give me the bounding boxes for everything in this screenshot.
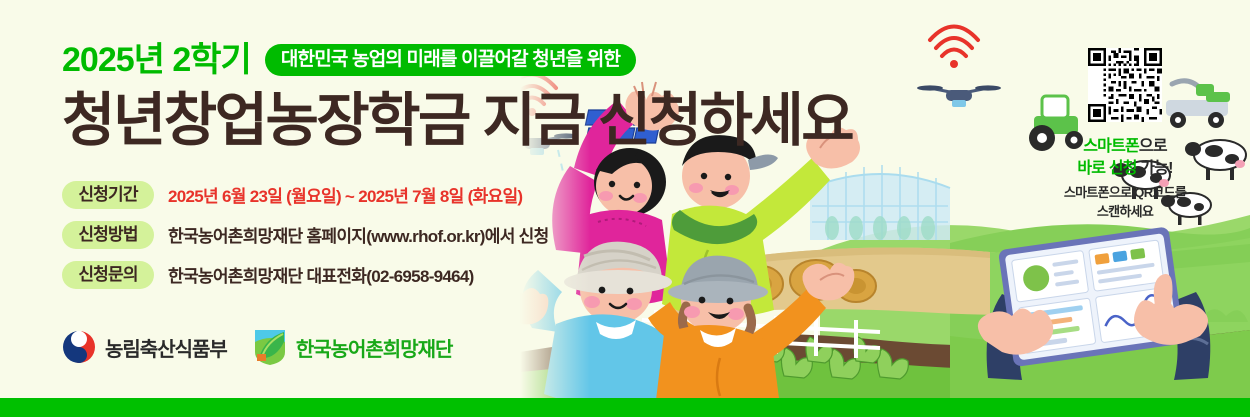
qr-headline-dark-1: 으로 xyxy=(1139,138,1167,155)
qr-sub-line2: 스캔하세요 xyxy=(1035,203,1215,222)
promo-banner: 2025년 2학기 대한민국 농업의 미래를 이끌어갈 청년을 위한 청년창업농… xyxy=(0,0,1250,417)
qr-block: 스마트폰으로 바로 신청 가능! 스마트폰으로 QR코드를 스캔하세요 xyxy=(1035,48,1215,222)
info-row-contact: 신청문의 한국농어촌희망재단 대표전화(02-6958-9464) xyxy=(62,255,682,295)
rhof-foundation-logo: 한국농어촌희망재단 xyxy=(253,328,453,366)
logo-row: 농림축산식품부 한국농어촌희망재단 xyxy=(62,328,452,366)
ministry-of-agriculture-logo: 농림축산식품부 xyxy=(62,330,227,364)
ministry-logo-text: 농림축산식품부 xyxy=(105,333,227,362)
info-row-method: 신청방법 한국농어촌희망재단 홈페이지(www.rhof.or.kr)에서 신청 xyxy=(62,215,682,255)
qr-headline-line1: 스마트폰으로 xyxy=(1035,136,1215,158)
green-leaf-shield-icon xyxy=(253,328,287,366)
bottom-green-band xyxy=(0,398,1250,417)
info-label-contact: 신청문의 xyxy=(62,261,154,289)
info-value-contact: 한국농어촌희망재단 대표전화(02-6958-9464) xyxy=(168,262,474,287)
qr-headline-green-1: 스마트폰 xyxy=(1083,138,1139,155)
info-value-period: 2025년 6월 23일 (월요일) ~ 2025년 7월 8일 (화요일) xyxy=(168,182,522,207)
qr-headline-line2: 바로 신청 가능! xyxy=(1035,158,1215,180)
semester-kicker: 2025년 2학기 xyxy=(62,43,251,77)
taegeuk-icon xyxy=(62,330,96,364)
qr-sub-line1: 스마트폰으로 QR코드를 xyxy=(1035,184,1215,203)
qr-code-icon[interactable] xyxy=(1088,48,1162,122)
headline-block: 2025년 2학기 대한민국 농업의 미래를 이끌어갈 청년을 위한 청년창업농… xyxy=(62,38,682,295)
info-label-method: 신청방법 xyxy=(62,221,154,249)
info-list: 신청기간 2025년 6월 23일 (월요일) ~ 2025년 7월 8일 (화… xyxy=(62,175,682,295)
page-title: 청년창업농장학금 지금 신청하세요 xyxy=(62,90,682,153)
info-row-period: 신청기간 2025년 6월 23일 (월요일) ~ 2025년 7월 8일 (화… xyxy=(62,175,682,215)
info-value-method: 한국농어촌희망재단 홈페이지(www.rhof.or.kr)에서 신청 xyxy=(168,222,549,247)
qr-headline-dark-2: 가능! xyxy=(1137,160,1173,177)
rhof-logo-text: 한국농어촌희망재단 xyxy=(296,333,453,362)
qr-headline-green-2: 바로 신청 xyxy=(1077,160,1136,177)
tagline-badge: 대한민국 농업의 미래를 이끌어갈 청년을 위한 xyxy=(265,44,636,76)
kicker-row: 2025년 2학기 대한민국 농업의 미래를 이끌어갈 청년을 위한 xyxy=(62,38,682,82)
info-label-period: 신청기간 xyxy=(62,181,154,209)
